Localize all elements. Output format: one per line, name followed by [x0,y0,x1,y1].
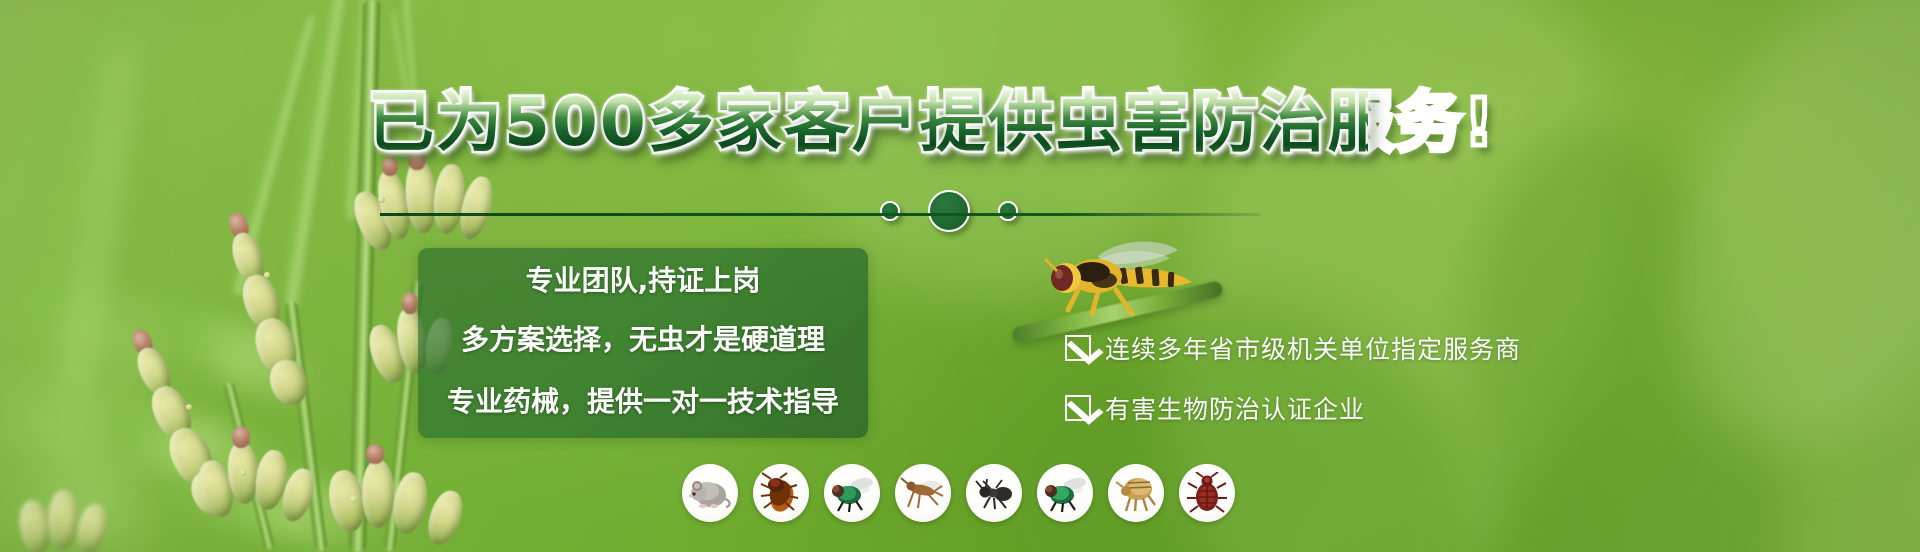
dot-large-center [928,190,970,232]
slogan-line-3: 专业药械，提供一对一技术指导 [432,371,854,433]
pest-control-banner: 已为500多家客户提供虫害防治服务! 已为500多家客户提供虫害防治服务! 专业… [0,0,1920,552]
pest-icon-row [682,464,1235,522]
checkbox-checked-icon [1065,335,1091,361]
checklist-item: 连续多年省市级机关单位指定服务商 [1065,330,1521,366]
mouse-icon[interactable] [682,464,738,522]
dot-small-right [998,201,1018,221]
hoverfly-illustration [1020,236,1210,336]
divider-line [380,213,1260,216]
cockroach-icon[interactable] [753,464,809,522]
ant-icon[interactable] [966,464,1022,522]
checklist-item-label: 连续多年省市级机关单位指定服务商 [1105,330,1521,366]
hoverfly-icon [1020,236,1210,326]
slogan-line-1: 专业团队,持证上岗 [432,253,854,309]
checklist-item: 有害生物防治认证企业 [1065,390,1521,426]
slogan-panel: 专业团队,持证上岗 多方案选择，无虫才是硬道理 专业药械，提供一对一技术指导 [418,248,868,438]
checklist-item-label: 有害生物防治认证企业 [1105,390,1365,426]
fly-icon[interactable] [824,464,880,522]
flea-icon[interactable] [1108,464,1164,522]
mosquito-icon[interactable] [895,464,951,522]
fly-green-icon[interactable] [1037,464,1093,522]
dot-small-left [880,201,900,221]
decorative-dots [880,190,1018,232]
slogan-line-2: 多方案选择，无虫才是硬道理 [432,309,854,371]
page-title: 已为500多家客户提供虫害防治服务! [368,90,1368,156]
checklist: 连续多年省市级机关单位指定服务商 有害生物防治认证企业 [1065,330,1521,450]
bedbug-icon[interactable] [1179,464,1235,522]
checkbox-checked-icon [1065,395,1091,421]
